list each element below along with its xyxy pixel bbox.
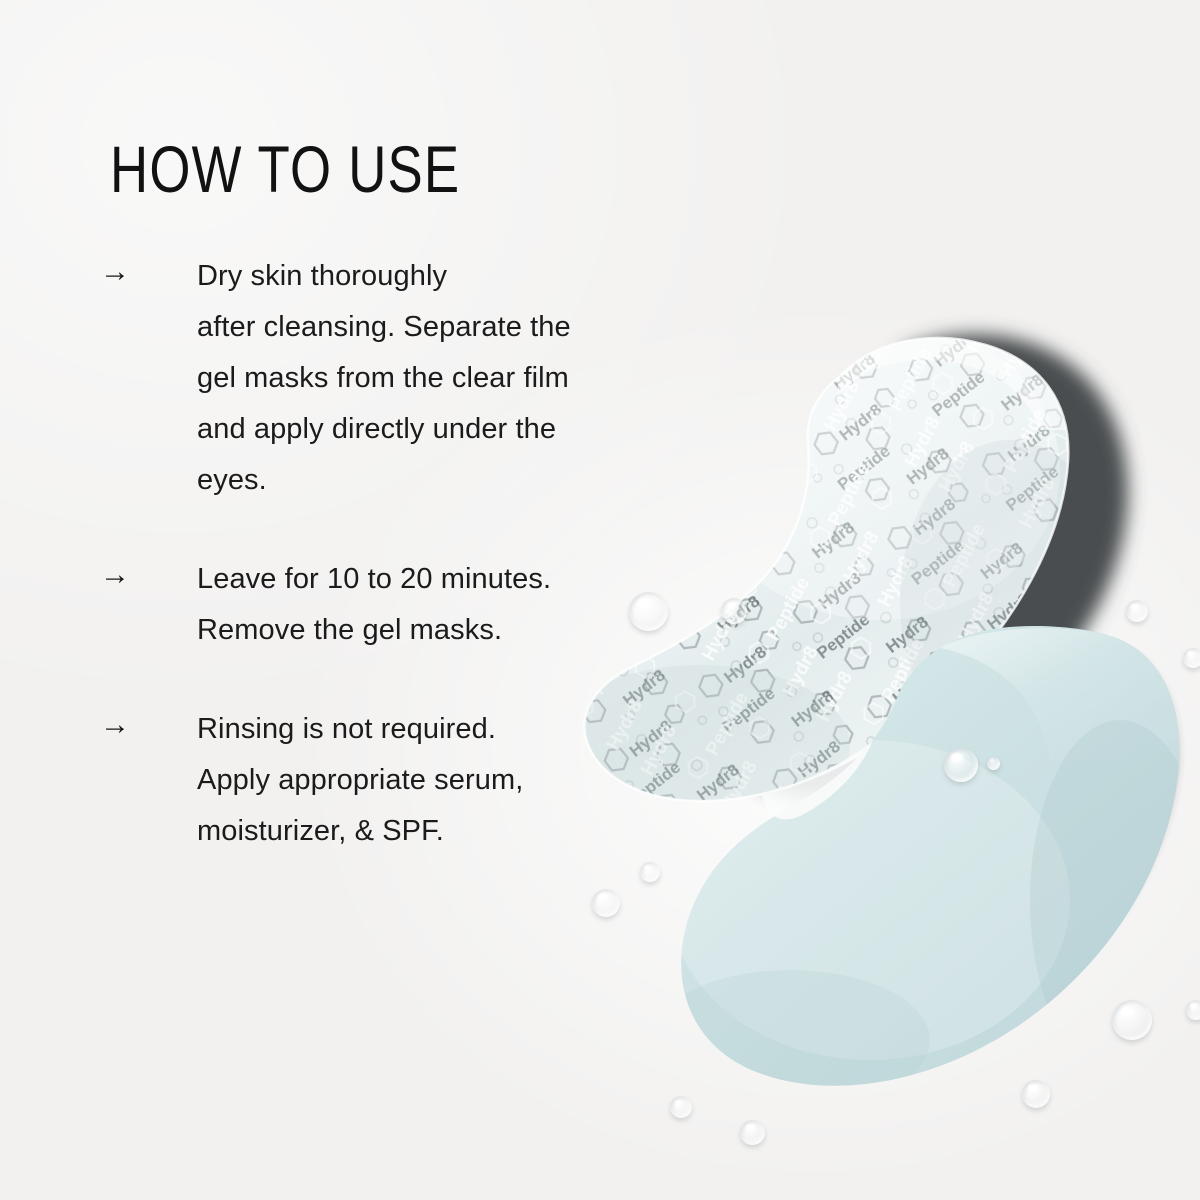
gel-patch-shadow bbox=[800, 650, 1175, 1061]
instruction-step: → Leave for 10 to 20 minutes. Remove the… bbox=[100, 554, 680, 656]
instruction-step: → Dry skin thoroughly after cleansing. S… bbox=[100, 251, 680, 506]
water-droplet bbox=[1022, 1080, 1050, 1108]
water-droplet bbox=[1112, 1000, 1152, 1040]
film-sliver bbox=[762, 742, 872, 819]
water-droplet bbox=[1183, 648, 1200, 668]
water-droplet bbox=[987, 757, 1000, 770]
instruction-step-text: Rinsing is not required. Apply appropria… bbox=[197, 704, 680, 857]
water-droplet bbox=[721, 598, 747, 624]
water-droplet bbox=[944, 748, 978, 782]
water-droplet bbox=[740, 1120, 765, 1145]
patch-shadow bbox=[727, 334, 1128, 797]
arrow-right-icon: → bbox=[100, 556, 152, 594]
instruction-step: → Rinsing is not required. Apply appropr… bbox=[100, 704, 680, 857]
page-title: HOW TO USE bbox=[110, 136, 460, 202]
instruction-step-text: Dry skin thoroughly after cleansing. Sep… bbox=[197, 251, 680, 506]
water-droplet bbox=[1126, 600, 1148, 622]
blue-gel-patch bbox=[650, 626, 1200, 1110]
instruction-list: → Dry skin thoroughly after cleansing. S… bbox=[100, 222, 680, 905]
product-instruction-card: Hydr8 Peptide Hydr8 Hydr8 bbox=[0, 0, 1200, 1200]
arrow-right-icon: → bbox=[100, 253, 152, 291]
arrow-right-icon: → bbox=[100, 706, 152, 744]
water-droplet bbox=[670, 1096, 692, 1118]
instruction-step-text: Leave for 10 to 20 minutes. Remove the g… bbox=[197, 554, 680, 656]
water-droplet bbox=[1186, 1000, 1200, 1020]
